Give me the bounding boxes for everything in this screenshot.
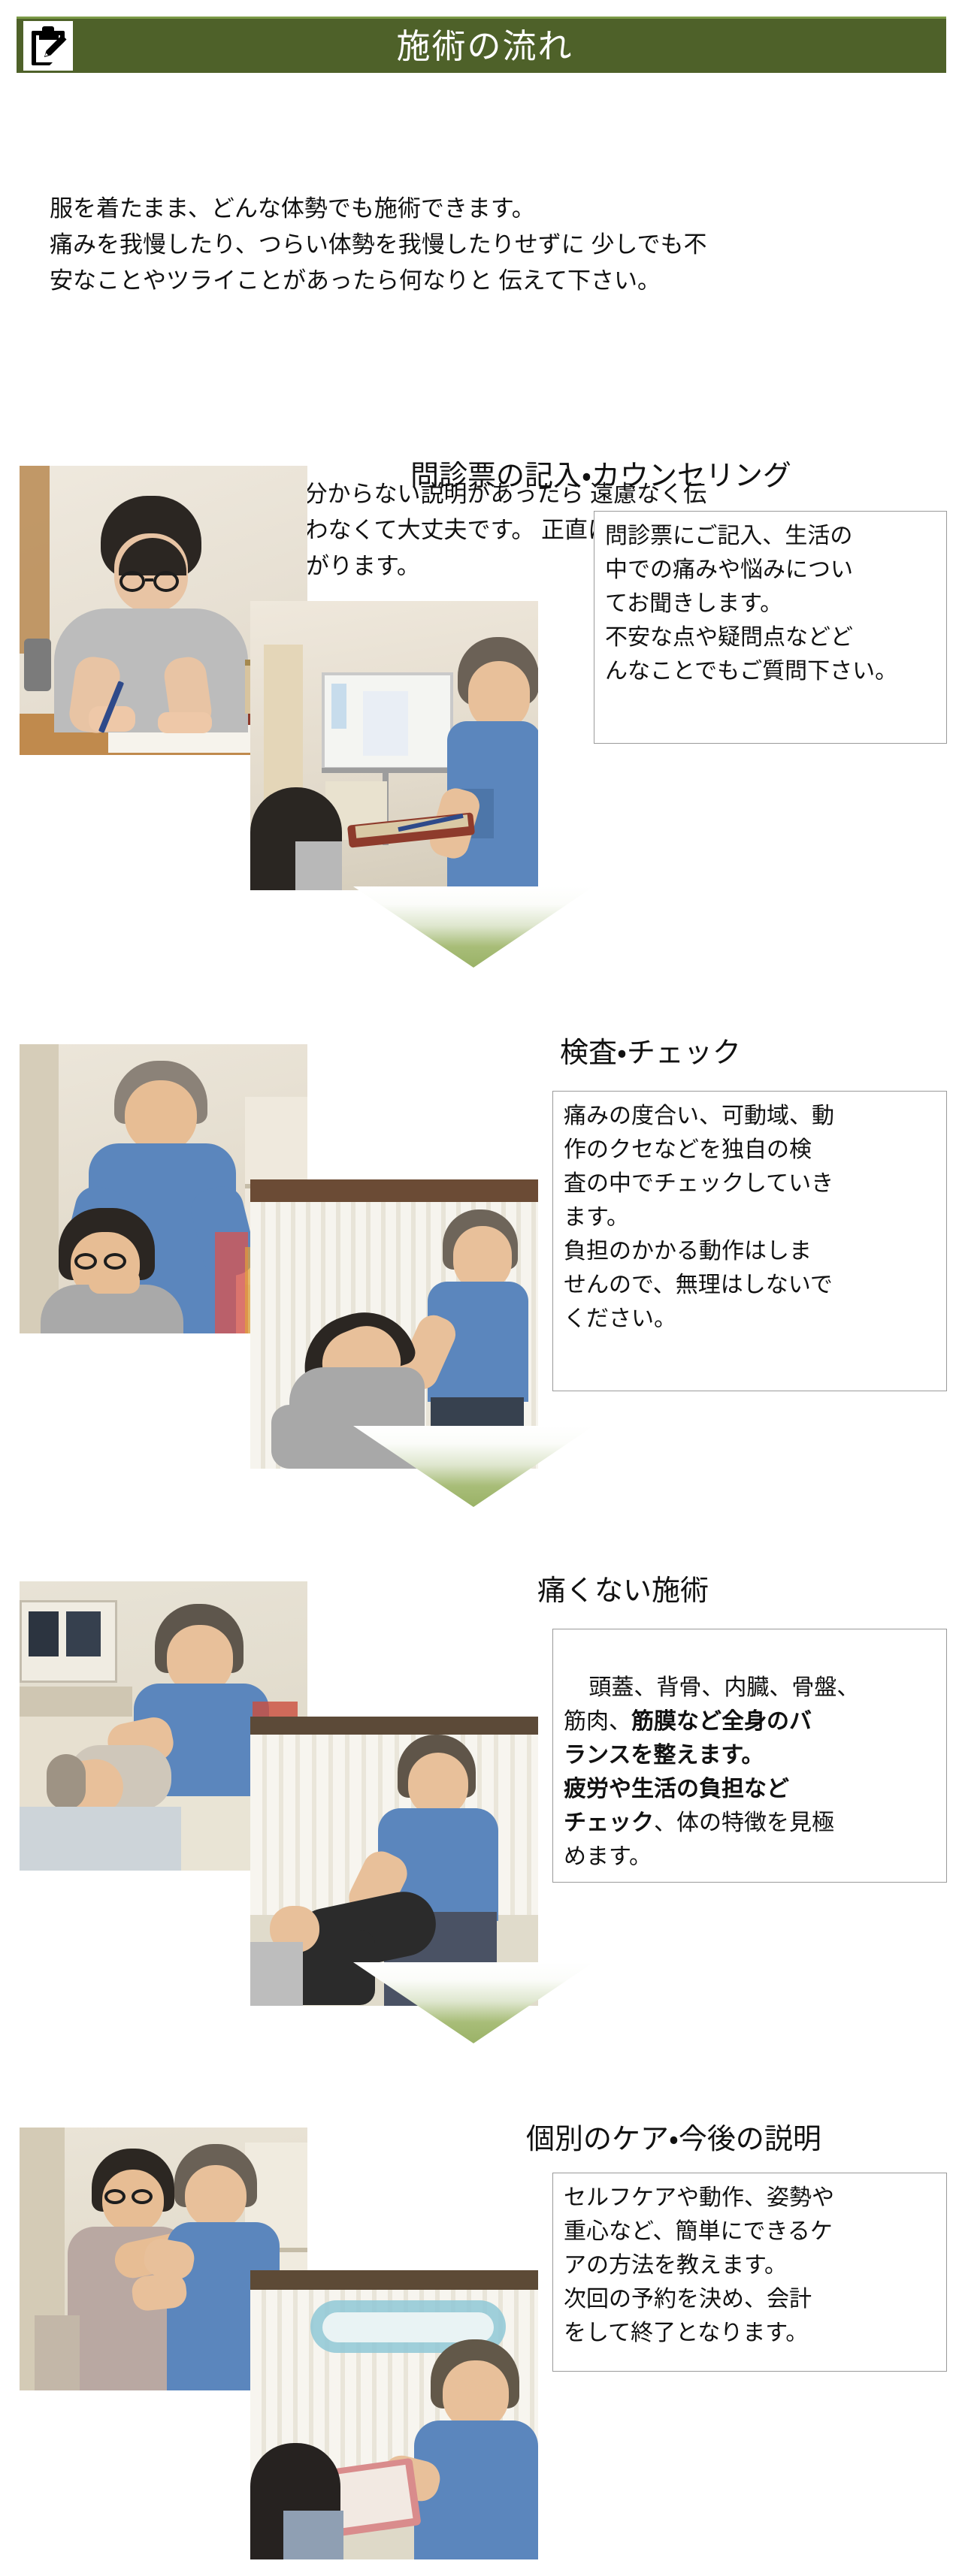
step-4-heading: 個別のケア・今後の説明 (526, 2123, 821, 2158)
step-1-heading: 問診票の記入・カウンセリング (410, 460, 791, 494)
step-2-description: 痛みの度合い、可動域、動 作のクセなどを独自の検 査の中でチェックしていき ます… (552, 1091, 947, 1391)
page-title: 施術の流れ (73, 29, 946, 63)
clipboard-pencil-icon (23, 21, 73, 71)
page-header: 施術の流れ (17, 17, 946, 73)
down-arrow-icon-2 (353, 1426, 594, 1507)
down-arrow-icon-3 (353, 1962, 594, 2043)
step-1-description: 問診票にご記入、生活の 中での痛みや悩みについ てお聞きします。 不安な点や疑問… (594, 511, 947, 744)
intro-paragraph-1: 服を着たまま、どんな体勢でも施術できます。 痛みを我慢したり、つらい体勢を我慢し… (50, 191, 921, 299)
step-3-description: 頭蓋、背骨、内臓、骨盤、 筋肉、筋膜など全身のバ ランスを整えます。 疲労や生活… (552, 1629, 947, 1883)
intro-spacer (50, 371, 921, 404)
step-2-heading: 検査・チェック (560, 1037, 741, 1071)
down-arrow-icon-1 (353, 886, 594, 968)
step-4-description: セルフケアや動作、姿勢や 重心など、簡単にできるケ アの方法を教えます。 次回の… (552, 2173, 947, 2372)
therapist-explaining-with-clipboard-photo (250, 601, 538, 890)
next-appointment-explanation-photo (250, 2270, 538, 2559)
step-3-heading: 痛くない施術 (537, 1575, 709, 1609)
